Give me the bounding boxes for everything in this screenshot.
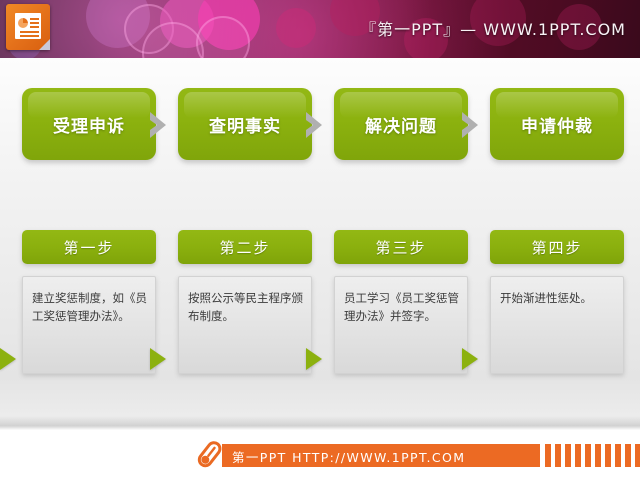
triangle-right-icon [306, 348, 322, 370]
triangle-right-icon [0, 348, 16, 370]
step-pill-label: 第二步 [219, 237, 270, 258]
flow-box-label: 解决问题 [365, 112, 437, 137]
step-card-3[interactable]: 员工学习《员工奖惩管理办法》并签字。 [334, 276, 468, 374]
triangle-right-icon [462, 348, 478, 370]
bokeh-circle [160, 0, 214, 48]
footer-stripes [545, 444, 640, 467]
chevron-right-icon [302, 110, 328, 140]
footer-url-text: 第一PPT HTTP://WWW.1PPT.COM [232, 447, 465, 466]
flow-box-label: 申请仲裁 [521, 112, 593, 137]
slide-header: 『第一PPT』— WWW.1PPT.COM [0, 0, 640, 58]
step-card-1[interactable]: 建立奖惩制度，如《员工奖惩管理办法》。 [22, 276, 156, 374]
header-title: 『第一PPT』— WWW.1PPT.COM [360, 16, 626, 40]
slide-canvas: 『第一PPT』— WWW.1PPT.COM 受理申诉 查明事实 解决问题 申请仲… [0, 0, 640, 480]
bokeh-circle [86, 0, 150, 48]
step-card-2[interactable]: 按照公示等民主程序颁布制度。 [178, 276, 312, 374]
bokeh-circle [276, 8, 316, 48]
step-card-text: 员工学习《员工奖惩管理办法》并签字。 [344, 289, 459, 325]
step-card-text: 开始渐进性惩处。 [500, 289, 615, 307]
flow-box-1[interactable]: 受理申诉 [22, 88, 156, 160]
chevron-right-icon [458, 110, 484, 140]
bokeh-circle [198, 0, 260, 50]
step-card-4[interactable]: 开始渐进性惩处。 [490, 276, 624, 374]
step-pill-4[interactable]: 第四步 [490, 230, 624, 264]
flow-box-label: 受理申诉 [53, 112, 125, 137]
flow-box-3[interactable]: 解决问题 [334, 88, 468, 160]
bokeh-circle [124, 4, 174, 54]
triangle-right-icon [150, 348, 166, 370]
pie-chart-glyph [18, 18, 28, 28]
chevron-right-icon [146, 110, 172, 140]
step-pill-label: 第四步 [531, 237, 582, 258]
step-card-text: 按照公示等民主程序颁布制度。 [188, 289, 303, 325]
flow-box-label: 查明事实 [209, 112, 281, 137]
step-card-text: 建立奖惩制度，如《员工奖惩管理办法》。 [32, 289, 147, 325]
step-pill-label: 第三步 [375, 237, 426, 258]
pencil-icon [192, 438, 226, 472]
bokeh-circle [142, 22, 204, 58]
step-pill-2[interactable]: 第二步 [178, 230, 312, 264]
flow-box-4[interactable]: 申请仲裁 [490, 88, 624, 160]
step-pill-3[interactable]: 第三步 [334, 230, 468, 264]
document-glyph [15, 13, 41, 39]
page-fold [39, 39, 50, 50]
bokeh-circle [196, 16, 250, 58]
step-pill-label: 第一步 [63, 237, 114, 258]
footer-url-bar: 第一PPT HTTP://WWW.1PPT.COM [222, 444, 540, 467]
flow-box-2[interactable]: 查明事实 [178, 88, 312, 160]
powerpoint-document-icon [6, 4, 50, 50]
step-pill-1[interactable]: 第一步 [22, 230, 156, 264]
